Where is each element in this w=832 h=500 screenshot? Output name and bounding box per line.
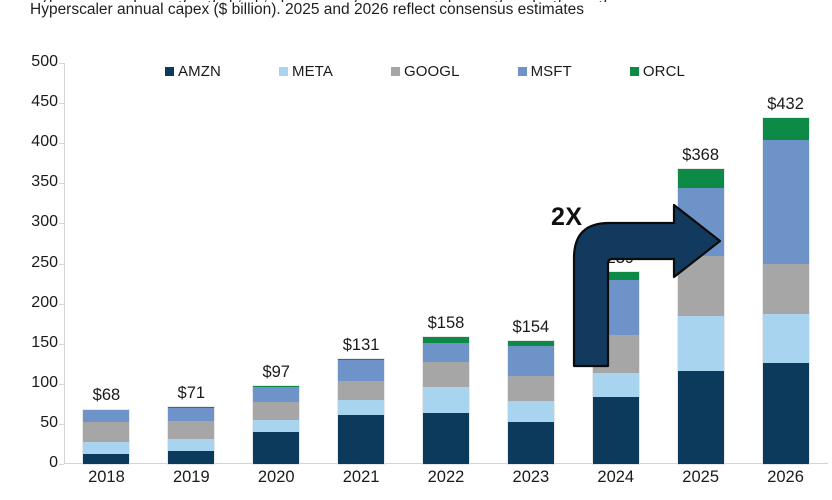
- y-tick-mark: [59, 464, 64, 465]
- x-tick-label: 2023: [488, 468, 573, 487]
- y-tick-label: 150: [4, 334, 58, 352]
- x-tick-label: 2020: [234, 468, 319, 487]
- stacked-bar[interactable]: [508, 341, 554, 464]
- bar-segment-amzn[interactable]: [593, 397, 639, 464]
- bar-segment-meta[interactable]: [763, 314, 809, 363]
- stacked-bar[interactable]: [763, 118, 809, 464]
- bar-segment-googl[interactable]: [253, 402, 299, 420]
- bar-total-label: $97: [262, 363, 290, 382]
- annotation-2x-label: 2X: [551, 203, 583, 232]
- y-tick-label: 500: [4, 53, 58, 71]
- bar-total-label: $68: [93, 386, 121, 405]
- x-tick-label: 2026: [743, 468, 828, 487]
- bar-segment-googl[interactable]: [508, 376, 554, 402]
- y-tick-label: 450: [4, 93, 58, 111]
- stacked-bar[interactable]: [253, 386, 299, 464]
- x-tick-label: 2024: [573, 468, 658, 487]
- bar-segment-amzn[interactable]: [678, 371, 724, 464]
- x-tick-label: 2025: [658, 468, 743, 487]
- bar-segment-msft[interactable]: [253, 387, 299, 402]
- bar-segment-meta[interactable]: [338, 400, 384, 415]
- x-tick-label: 2021: [319, 468, 404, 487]
- y-axis-labels: 050100150200250300350400450500: [0, 63, 58, 464]
- bar-segment-amzn[interactable]: [83, 454, 129, 464]
- bar-segment-googl[interactable]: [168, 421, 214, 439]
- y-tick-label: 250: [4, 254, 58, 272]
- bar-group-2023[interactable]: $154: [488, 63, 573, 464]
- bar-segment-amzn[interactable]: [423, 413, 469, 464]
- bar-group-2026[interactable]: $432: [743, 63, 828, 464]
- y-tick-label: 200: [4, 294, 58, 312]
- stacked-bar[interactable]: [83, 410, 129, 465]
- bar-segment-meta[interactable]: [168, 439, 214, 451]
- plot-area: $68$71$97$131$158$154$239$368$432 2X: [64, 63, 828, 464]
- bar-segment-googl[interactable]: [338, 381, 384, 400]
- bar-segment-msft[interactable]: [508, 346, 554, 376]
- bar-segment-meta[interactable]: [83, 442, 129, 453]
- bar-group-2018[interactable]: $68: [64, 63, 149, 464]
- elbow-arrow-up-right-icon: [564, 203, 724, 368]
- stacked-bar[interactable]: [168, 407, 214, 464]
- y-tick-label: 50: [4, 414, 58, 432]
- bar-segment-amzn[interactable]: [253, 432, 299, 464]
- bar-total-label: $158: [428, 314, 465, 333]
- bar-total-label: $368: [682, 146, 719, 165]
- chart-root: Hyperscaler capex is going up, up, up an…: [0, 0, 832, 500]
- bar-segment-googl[interactable]: [763, 264, 809, 314]
- x-tick-label: 2018: [64, 468, 149, 487]
- y-tick-label: 100: [4, 374, 58, 392]
- bar-segment-meta[interactable]: [253, 420, 299, 432]
- bar-segment-amzn[interactable]: [508, 422, 554, 465]
- y-tick-label: 300: [4, 213, 58, 231]
- bar-segment-amzn[interactable]: [338, 415, 384, 464]
- bar-segment-msft[interactable]: [338, 360, 384, 381]
- bar-group-2019[interactable]: $71: [149, 63, 234, 464]
- y-tick-label: 350: [4, 173, 58, 191]
- bar-segment-amzn[interactable]: [763, 363, 809, 464]
- bar-total-label: $154: [513, 318, 550, 337]
- bar-total-label: $131: [343, 336, 380, 355]
- bar-segment-msft[interactable]: [168, 408, 214, 421]
- y-tick-label: 0: [4, 454, 58, 472]
- bar-segment-googl[interactable]: [423, 362, 469, 387]
- bar-segment-msft[interactable]: [763, 140, 809, 264]
- bar-segment-msft[interactable]: [83, 410, 129, 422]
- y-tick-label: 400: [4, 133, 58, 151]
- x-axis-labels: 201820192020202120222023202420252026: [64, 468, 828, 494]
- bar-segment-orcl[interactable]: [763, 118, 809, 140]
- bar-segment-orcl[interactable]: [678, 169, 724, 188]
- bar-segment-meta[interactable]: [508, 401, 554, 421]
- bar-total-label: $71: [178, 384, 206, 403]
- x-tick-label: 2019: [149, 468, 234, 487]
- chart-subtitle: Hyperscaler annual capex ($ billion). 20…: [30, 1, 584, 19]
- bar-total-label: $432: [767, 95, 804, 114]
- bar-segment-googl[interactable]: [83, 422, 129, 442]
- bar-segment-meta[interactable]: [423, 387, 469, 413]
- stacked-bar[interactable]: [423, 337, 469, 464]
- bar-group-2022[interactable]: $158: [404, 63, 489, 464]
- bar-segment-amzn[interactable]: [168, 451, 214, 464]
- stacked-bar[interactable]: [338, 359, 384, 464]
- bar-segment-meta[interactable]: [593, 373, 639, 397]
- bar-group-2021[interactable]: $131: [319, 63, 404, 464]
- bar-segment-msft[interactable]: [423, 343, 469, 362]
- x-tick-label: 2022: [404, 468, 489, 487]
- bar-group-2020[interactable]: $97: [234, 63, 319, 464]
